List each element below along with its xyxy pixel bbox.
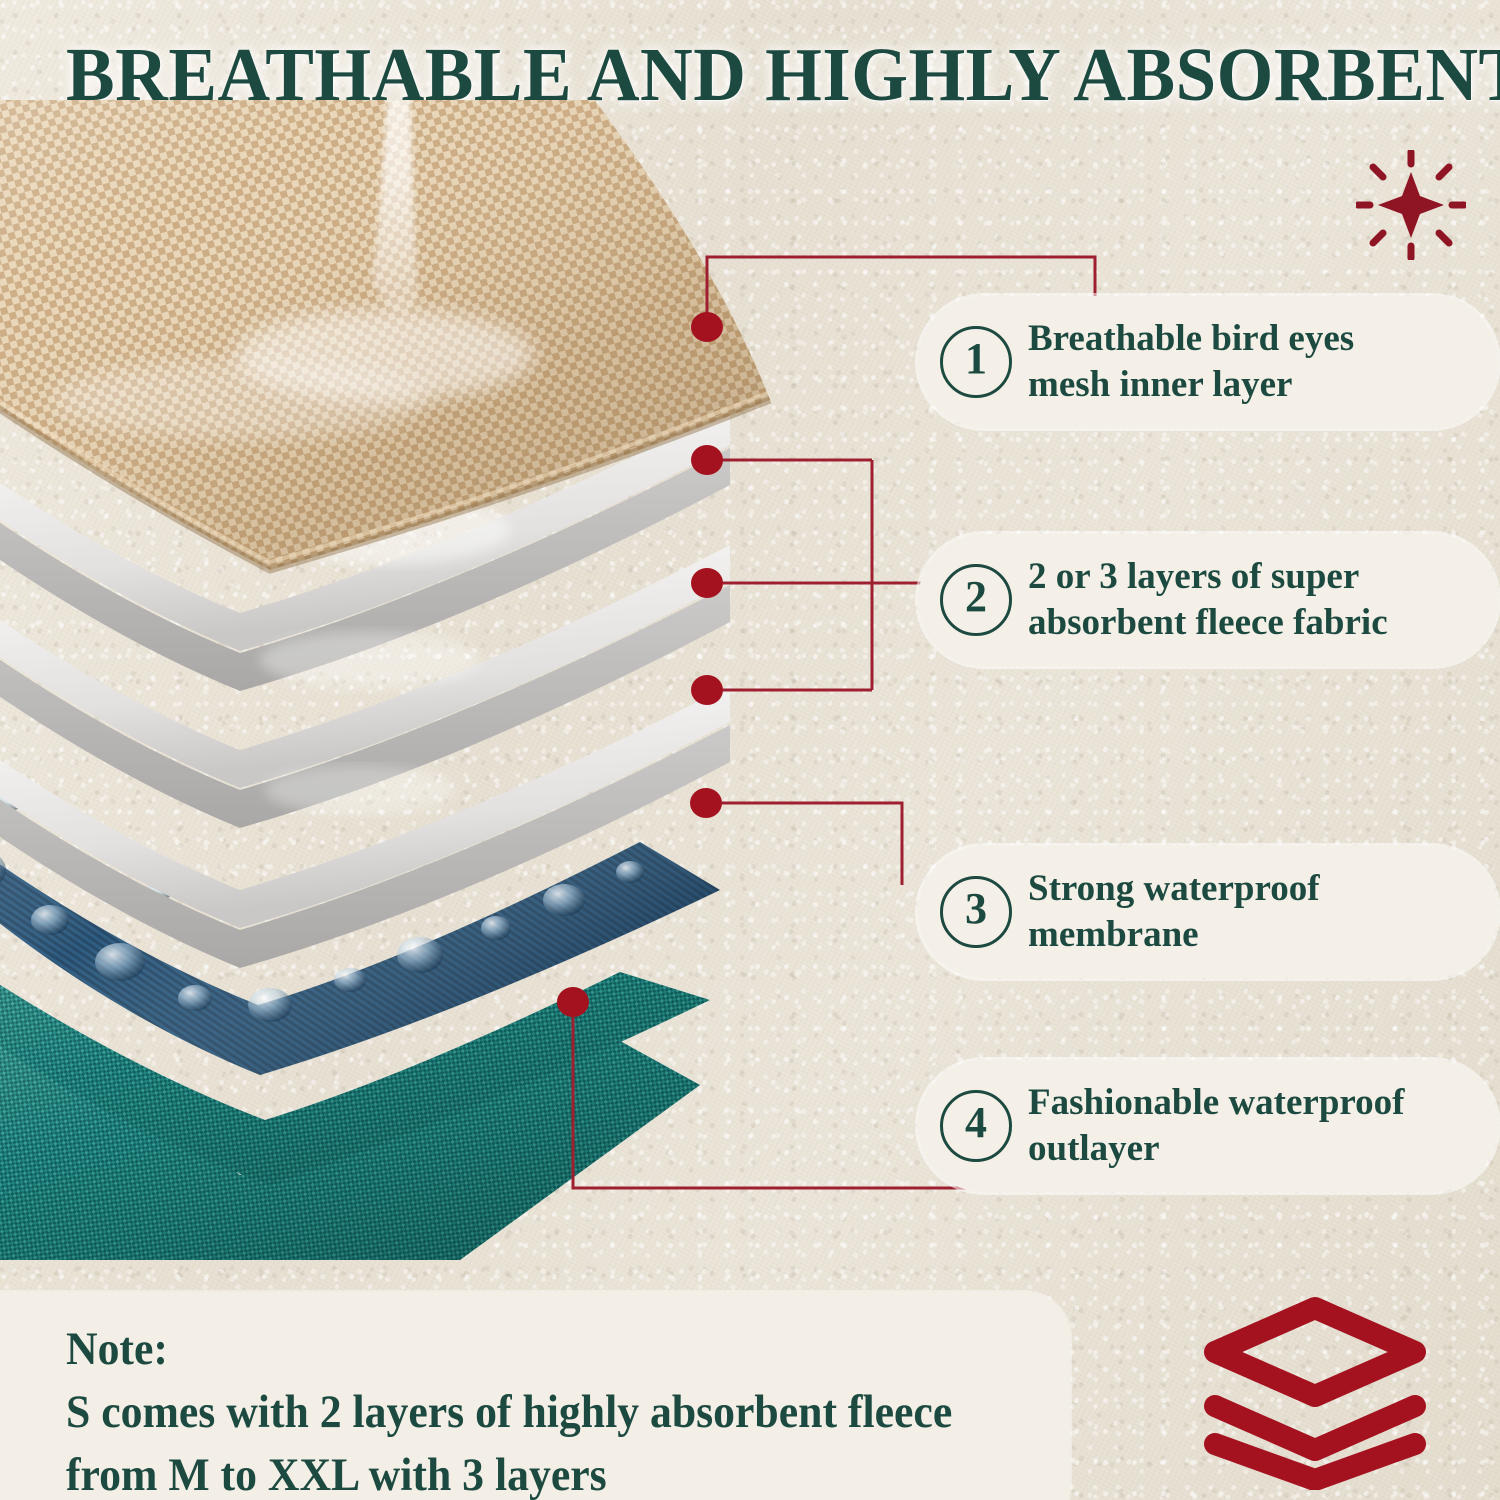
callout-4-number: 4 <box>940 1090 1012 1162</box>
layers-stack-icon <box>1196 1292 1434 1490</box>
callout-2[interactable]: 2 2 or 3 layers of super absorbent fleec… <box>918 534 1498 666</box>
callout-3[interactable]: 3 Strong waterproof membrane <box>918 846 1498 978</box>
sparkle-icon <box>1356 150 1466 260</box>
note-text: Note: S comes with 2 layers of highly ab… <box>66 1318 1015 1500</box>
callout-1-label: Breathable bird eyes mesh inner layer <box>1028 316 1354 408</box>
callout-1-number: 1 <box>940 326 1012 398</box>
callout-1[interactable]: 1 Breathable bird eyes mesh inner layer <box>918 296 1498 428</box>
layer-stack-artwork <box>0 100 840 1260</box>
infographic-root: BREATHABLE AND HIGHLY ABSORBENT <box>0 0 1500 1500</box>
callout-4[interactable]: 4 Fashionable waterproof outlayer <box>918 1060 1498 1192</box>
callout-3-label: Strong waterproof membrane <box>1028 866 1320 958</box>
callout-2-label: 2 or 3 layers of super absorbent fleece … <box>1028 554 1388 646</box>
callout-3-number: 3 <box>940 876 1012 948</box>
callout-2-number: 2 <box>940 564 1012 636</box>
callout-4-label: Fashionable waterproof outlayer <box>1028 1080 1405 1172</box>
